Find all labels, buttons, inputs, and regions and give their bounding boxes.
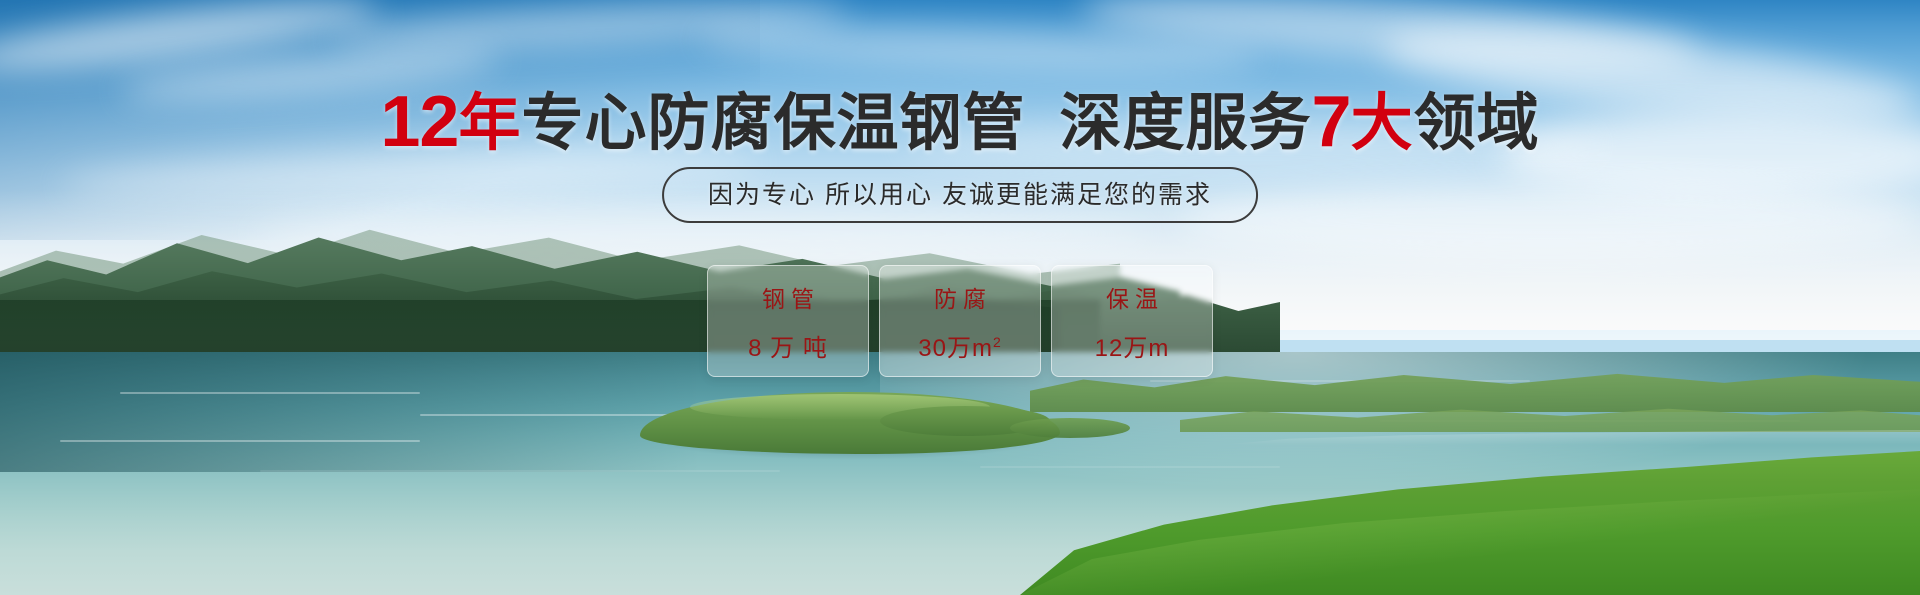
stat-card-insulation: 保温 12万m — [1051, 265, 1213, 377]
islet — [1010, 418, 1130, 438]
headline-part-two: 深度服务 — [1060, 89, 1312, 158]
stat-card-value-text: 12万m — [1095, 335, 1170, 362]
stat-card-steel-pipe: 钢管 8 万 吨 — [707, 265, 869, 377]
stat-card-value-text: 8 万 吨 — [748, 335, 828, 362]
stat-card-value: 30万m2 — [918, 328, 1001, 363]
stat-card-value-superscript: 2 — [993, 334, 1002, 350]
water-ripple — [120, 392, 420, 394]
headline-years-unit: 年 — [458, 89, 521, 158]
headline-fields-unit: 大 — [1351, 89, 1414, 158]
hero-banner: 12年专心防腐保温钢管深度服务7大领域 因为专心 所以用心 友诚更能满足您的需求… — [0, 0, 1920, 595]
banner-subtitle-pill: 因为专心 所以用心 友诚更能满足您的需求 — [662, 167, 1258, 223]
stat-card-value-text: 30万m — [918, 335, 993, 362]
headline-fields-number: 7 — [1312, 82, 1351, 162]
stat-card-value: 12万m — [1095, 328, 1170, 363]
headline-part-one: 专心防腐保温钢管 — [522, 89, 1026, 158]
stat-card-label: 防腐 — [928, 280, 992, 314]
water-shadow-left — [0, 352, 700, 472]
stat-card-label: 钢管 — [756, 280, 820, 314]
headline-years-number: 12 — [380, 82, 458, 162]
stat-card-label: 保温 — [1100, 280, 1164, 314]
water-ripple — [60, 440, 420, 442]
headline-part-three: 领域 — [1414, 89, 1540, 158]
stat-card-value: 8 万 吨 — [748, 328, 828, 363]
water-ripple — [980, 466, 1280, 468]
water-ripple — [260, 470, 780, 472]
banner-headline: 12年专心防腐保温钢管深度服务7大领域 — [0, 86, 1920, 158]
stat-card-anticorrosion: 防腐 30万m2 — [879, 265, 1041, 377]
stat-card-list: 钢管 8 万 吨 防腐 30万m2 保温 12万m — [707, 265, 1213, 377]
